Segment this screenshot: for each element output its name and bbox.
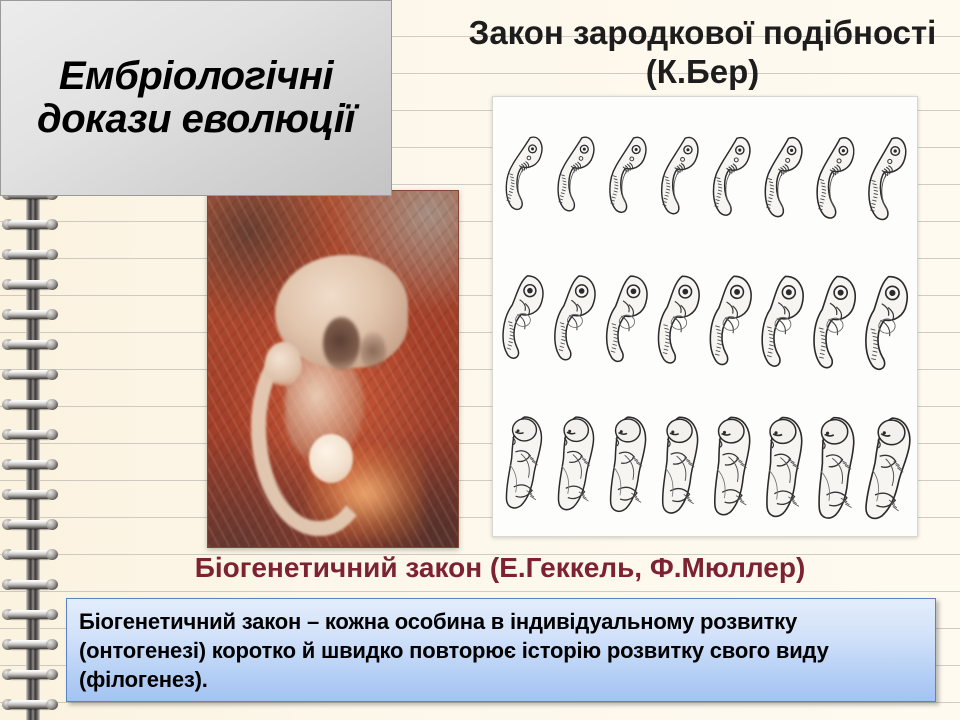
- spiral-ring-cap-right: [46, 579, 58, 590]
- spiral-ring-cap-right: [46, 609, 58, 620]
- spiral-ring-cap-right: [46, 459, 58, 470]
- spiral-ring: [2, 608, 58, 621]
- spiral-ring-cap-right: [46, 309, 58, 320]
- spiral-ring: [2, 218, 58, 231]
- embryo-drawing: [863, 248, 911, 385]
- spiral-ring: [2, 338, 58, 351]
- embryo-chart-row: [497, 248, 913, 385]
- spiral-ring: [2, 518, 58, 531]
- embryo-drawing: [603, 248, 651, 385]
- spiral-ring-cap-right: [46, 429, 58, 440]
- embryo-photograph: [207, 190, 459, 548]
- embryo-drawing: [551, 248, 599, 385]
- spiral-ring-cap-right: [46, 249, 58, 260]
- spiral-ring: [2, 488, 58, 501]
- embryo-chart-row: [497, 391, 913, 528]
- spiral-ring: [2, 278, 58, 291]
- spiral-ring-cap-right: [46, 219, 58, 230]
- spiral-ring-cap-right: [46, 279, 58, 290]
- spiral-ring-cap-right: [46, 369, 58, 380]
- haeckel-embryo-chart: [492, 96, 918, 537]
- embryo-figure: [248, 255, 418, 511]
- embryo-drawing: [707, 248, 755, 385]
- spiral-ring: [2, 428, 58, 441]
- embryo-eye-secondary: [360, 332, 386, 370]
- embryo-drawing: [655, 391, 703, 528]
- spiral-ring-cap-right: [46, 519, 58, 530]
- embryo-drawing: [811, 106, 859, 243]
- embryo-drawing: [707, 391, 755, 528]
- embryo-drawing: [499, 248, 547, 385]
- embryo-drawing: [603, 391, 651, 528]
- embryo-drawing: [551, 106, 599, 243]
- section-header: Закон зародкової подібності (К.Бер): [455, 14, 950, 92]
- spiral-ring: [2, 398, 58, 411]
- embryo-drawing: [759, 391, 807, 528]
- definition-text: Біогенетичний закон – кожна особина в ін…: [79, 607, 923, 694]
- embryo-chart-row: [497, 106, 913, 243]
- biogenetic-law-caption: Біогенетичний закон (Е.Геккель, Ф.Мюллер…: [60, 552, 940, 584]
- definition-callout-box: Біогенетичний закон – кожна особина в ін…: [66, 598, 936, 702]
- embryo-drawing: [811, 391, 859, 528]
- spiral-ring-cap-right: [46, 399, 58, 410]
- title-plaque: Ембріологічні докази еволюції: [0, 0, 392, 196]
- page-title: Ембріологічні докази еволюції: [1, 55, 391, 141]
- embryo-drawing: [863, 391, 911, 528]
- embryo-drawing: [863, 106, 911, 243]
- embryo-limb-bud: [265, 342, 302, 386]
- spiral-ring-cap-right: [46, 549, 58, 560]
- spiral-ring: [2, 548, 58, 561]
- spiral-ring-cap-right: [46, 639, 58, 650]
- spiral-ring: [2, 578, 58, 591]
- spiral-ring-cap-right: [46, 339, 58, 350]
- spiral-ring-cap-right: [46, 699, 58, 710]
- spiral-ring: [2, 308, 58, 321]
- embryo-drawing: [707, 106, 755, 243]
- embryo-drawing: [603, 106, 651, 243]
- spiral-ring-cap-right: [46, 489, 58, 500]
- spiral-ring: [2, 458, 58, 471]
- embryo-drawing: [655, 248, 703, 385]
- spiral-ring: [2, 698, 58, 711]
- embryo-drawing: [759, 106, 807, 243]
- spiral-ring: [2, 368, 58, 381]
- spiral-ring: [2, 668, 58, 681]
- embryo-drawing: [499, 106, 547, 243]
- embryo-drawing: [655, 106, 703, 243]
- embryo-drawing: [551, 391, 599, 528]
- spiral-ring-cap-right: [46, 669, 58, 680]
- embryo-drawing: [759, 248, 807, 385]
- embryo-drawing: [811, 248, 859, 385]
- spiral-ring: [2, 248, 58, 261]
- spiral-ring: [2, 638, 58, 651]
- embryo-drawing: [499, 391, 547, 528]
- slide-canvas: Ембріологічні докази еволюції Закон заро…: [0, 0, 960, 720]
